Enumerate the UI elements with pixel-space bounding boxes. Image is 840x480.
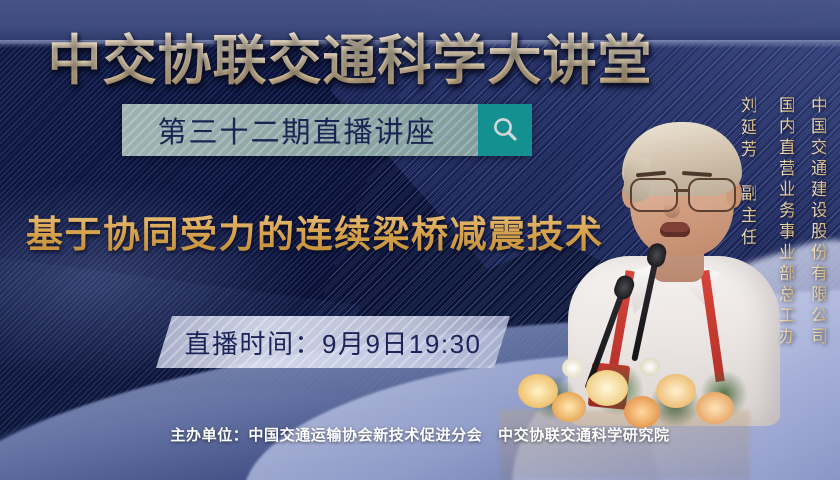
glasses-lens-right bbox=[688, 178, 736, 212]
broadcast-time-badge: 直播时间：9月9日19:30 bbox=[156, 316, 510, 368]
lecture-headline: 基于协同受力的连续梁桥减震技术 bbox=[26, 204, 604, 258]
flower-bloom bbox=[656, 374, 696, 408]
flower-bloom bbox=[562, 358, 584, 378]
glasses-bridge bbox=[674, 189, 690, 192]
search-icon bbox=[490, 115, 520, 145]
live-lecture-poster: 中交协联交通科学大讲堂 第三十二期直播讲座 基于协同受力的连续梁桥减震技术 直播… bbox=[0, 0, 840, 480]
speaker-name-title: 刘延芳 副主任 bbox=[738, 96, 756, 250]
episode-bar[interactable]: 第三十二期直播讲座 bbox=[122, 104, 532, 156]
episode-label: 第三十二期直播讲座 bbox=[122, 104, 478, 156]
speaker-company: 中国交通建设股份有限公司 bbox=[808, 96, 826, 348]
flower-bloom bbox=[640, 358, 660, 376]
speaker-department: 国内直营业务事业部总工办 bbox=[776, 96, 794, 348]
podium-flowers bbox=[500, 330, 750, 480]
broadcast-time-label: 直播时间：9月9日19:30 bbox=[185, 324, 482, 361]
speaker-mouth bbox=[660, 222, 690, 237]
flower-bloom bbox=[696, 392, 734, 424]
organizer-line: 主办单位：中国交通运输协会新技术促进分会 中交协联交通科学研究院 bbox=[0, 424, 840, 445]
speaker-glasses bbox=[626, 178, 738, 210]
page-title: 中交协联交通科学大讲堂 bbox=[0, 16, 700, 95]
flower-bloom bbox=[586, 370, 628, 406]
search-button[interactable] bbox=[478, 104, 532, 156]
flower-bloom bbox=[552, 392, 586, 422]
